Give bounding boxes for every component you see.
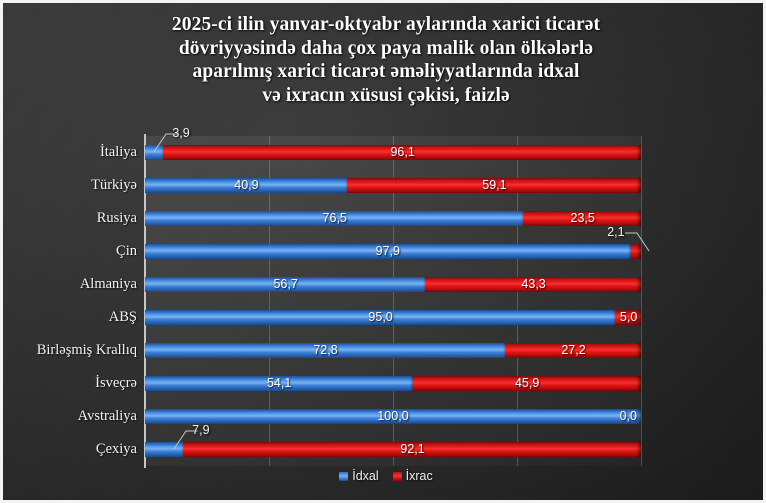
table-row: 97,92,1 <box>145 235 641 268</box>
category-label: İtaliya <box>100 136 137 169</box>
bar-track: 100,00,0 <box>145 409 641 424</box>
bar-track: 40,959,1 <box>145 178 641 193</box>
table-row: 3,996,1 <box>145 136 641 169</box>
bar-value-label-ixrac: 43,3 <box>426 277 641 292</box>
bar-value-label-idxal: 40,9 <box>145 178 348 193</box>
category-label: Türkiyə <box>91 169 137 202</box>
table-row: 56,743,3 <box>145 268 641 301</box>
page-title: 2025-ci ilin yanvar-oktyabr aylarında xa… <box>63 13 709 107</box>
legend-label: İdxal <box>352 469 378 483</box>
bar-value-label-ixrac: 27,2 <box>506 343 641 358</box>
legend-item[interactable]: İdxal <box>339 469 378 483</box>
plot-area: 3,996,140,959,176,523,597,92,156,743,395… <box>145 136 641 466</box>
bar-value-label-idxal: 56,7 <box>145 277 426 292</box>
bar-value-label-ixrac: 92,1 <box>184 442 641 457</box>
category-label: ABŞ <box>109 301 137 334</box>
bar-track: 97,92,1 <box>145 244 641 259</box>
bar-value-label-ixrac: 23,5 <box>524 211 641 226</box>
bar-value-label-ixrac: 0,0 <box>603 409 637 424</box>
bar-value-label-idxal: 54,1 <box>145 376 413 391</box>
legend-item[interactable]: İxrac <box>393 469 433 483</box>
bar-value-label-ixrac: 2,1 <box>585 225 625 240</box>
bar-value-label-ixrac: 96,1 <box>164 145 641 160</box>
gridline <box>641 136 642 466</box>
table-row: 72,827,2 <box>145 334 641 367</box>
category-label: Çin <box>116 235 137 268</box>
label-leader-line <box>625 229 667 253</box>
table-row: 7,992,1 <box>145 433 641 466</box>
chart-legend: İdxalİxrac <box>3 469 766 483</box>
table-row: 100,00,0 <box>145 400 641 433</box>
category-label: Almaniya <box>80 268 137 301</box>
table-row: 95,05,0 <box>145 301 641 334</box>
bar-track: 72,827,2 <box>145 343 641 358</box>
bar-value-label-idxal: 100,0 <box>145 409 641 424</box>
table-row: 40,959,1 <box>145 169 641 202</box>
legend-label: İxrac <box>406 469 433 483</box>
bar-value-label-idxal: 7,9 <box>192 423 209 438</box>
bar-value-label-ixrac: 5,0 <box>616 310 641 325</box>
bar-value-label-idxal: 97,9 <box>145 244 631 259</box>
bar-value-label-ixrac: 59,1 <box>348 178 641 193</box>
bar-value-label-idxal: 95,0 <box>145 310 616 325</box>
blue-square-icon <box>339 472 348 481</box>
category-axis: İtaliyaTürkiyəRusiyaÇinAlmaniyaABŞBirləş… <box>3 136 145 466</box>
bar-track: 3,996,1 <box>145 145 641 160</box>
bar-track: 56,743,3 <box>145 277 641 292</box>
bar-value-label-idxal: 3,9 <box>172 126 189 141</box>
bar-track: 76,523,5 <box>145 211 641 226</box>
category-label: Avstraliya <box>78 400 137 433</box>
table-row: 76,523,5 <box>145 202 641 235</box>
category-label: Çexiya <box>96 433 137 466</box>
bar-value-label-ixrac: 45,9 <box>413 376 641 391</box>
bar-value-label-idxal: 76,5 <box>145 211 524 226</box>
bar-track: 7,992,1 <box>145 442 641 457</box>
red-square-icon <box>393 472 402 481</box>
category-label: Rusiya <box>97 202 137 235</box>
category-label: İsveçrə <box>95 367 137 400</box>
category-label: Birləşmiş Krallıq <box>37 334 137 367</box>
slide-canvas: 2025-ci ilin yanvar-oktyabr aylarında xa… <box>0 0 766 503</box>
bar-value-label-idxal: 72,8 <box>145 343 506 358</box>
bar-track: 54,145,9 <box>145 376 641 391</box>
bar-track: 95,05,0 <box>145 310 641 325</box>
table-row: 54,145,9 <box>145 367 641 400</box>
